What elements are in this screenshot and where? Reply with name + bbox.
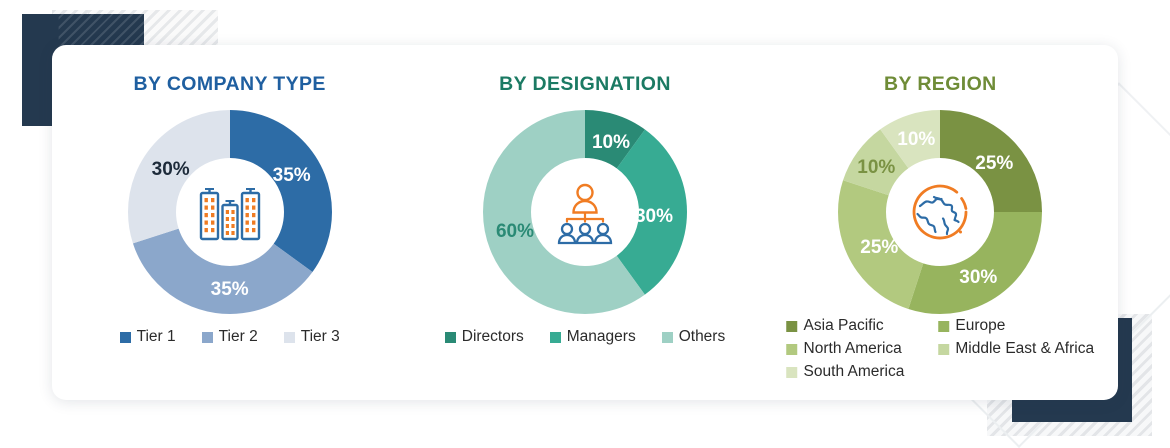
chart-card: BY COMPANY TYPE 35% 35% 30% [52, 45, 1118, 400]
legend-swatch-south-america [787, 367, 798, 378]
legend-swatch-directors [445, 332, 456, 343]
legend-swatch-tier-1 [120, 332, 131, 343]
donut-chart-designation: 10% 30% 60% [481, 108, 689, 316]
legend-label-others: Others [679, 328, 726, 346]
donut-chart-region: 25% 30% 25% 10% 10% [836, 108, 1044, 316]
legend-item-managers[interactable]: Managers [550, 328, 636, 346]
legend-label-managers: Managers [567, 328, 636, 346]
buildings-icon [193, 175, 267, 249]
slice-label-tier-2: 35% [211, 279, 249, 301]
legend-swatch-others [662, 332, 673, 343]
legend-company-type: Tier 1 Tier 2 Tier 3 [52, 328, 407, 346]
legend-region: Asia Pacific Europe North America Middle… [787, 317, 1095, 381]
legend-swatch-managers [550, 332, 561, 343]
legend-label-asia-pacific: Asia Pacific [804, 317, 884, 335]
legend-item-south-america[interactable]: South America [787, 363, 905, 381]
legend-item-tier-2[interactable]: Tier 2 [202, 328, 258, 346]
legend-label-south-america: South America [804, 363, 905, 381]
slice-label-north-america: 25% [860, 237, 898, 259]
slice-label-tier-3: 30% [152, 159, 190, 181]
org-chart-icon [548, 175, 622, 249]
infographic-stage: BY COMPANY TYPE 35% 35% 30% [0, 0, 1170, 444]
slice-label-middle-east-africa: 10% [857, 157, 895, 179]
slice-label-others: 60% [496, 221, 534, 243]
legend-designation: Directors Managers Others [407, 328, 762, 346]
slice-label-directors: 10% [592, 132, 630, 154]
globe-icon [903, 175, 977, 249]
slice-label-tier-1: 35% [273, 165, 311, 187]
legend-swatch-europe [938, 321, 949, 332]
legend-swatch-north-america [787, 344, 798, 355]
legend-swatch-asia-pacific [787, 321, 798, 332]
panel-by-region: BY REGION 25% 30% 25% 10% [763, 45, 1118, 400]
legend-label-europe: Europe [955, 317, 1005, 335]
legend-item-asia-pacific[interactable]: Asia Pacific [787, 317, 905, 335]
panel-by-designation: BY DESIGNATION 10% 30% 60% [407, 45, 762, 400]
panel-by-company-type: BY COMPANY TYPE 35% 35% 30% [52, 45, 407, 400]
legend-item-directors[interactable]: Directors [445, 328, 524, 346]
chart-panels: BY COMPANY TYPE 35% 35% 30% [52, 45, 1118, 400]
legend-item-others[interactable]: Others [662, 328, 726, 346]
legend-label-tier-2: Tier 2 [219, 328, 258, 346]
slice-label-europe: 30% [959, 267, 997, 289]
legend-label-tier-1: Tier 1 [137, 328, 176, 346]
legend-item-tier-1[interactable]: Tier 1 [120, 328, 176, 346]
legend-item-north-america[interactable]: North America [787, 340, 905, 358]
slice-label-managers: 30% [635, 206, 673, 228]
legend-label-north-america: North America [804, 340, 902, 358]
slice-label-asia-pacific: 25% [975, 153, 1013, 175]
legend-swatch-tier-3 [284, 332, 295, 343]
legend-swatch-middle-east-africa [938, 344, 949, 355]
legend-item-middle-east-africa[interactable]: Middle East & Africa [938, 340, 1094, 358]
legend-label-tier-3: Tier 3 [301, 328, 340, 346]
legend-swatch-tier-2 [202, 332, 213, 343]
slice-label-south-america: 10% [897, 129, 935, 151]
panel-title-region: BY REGION [884, 73, 997, 96]
panel-title-company-type: BY COMPANY TYPE [133, 73, 325, 96]
panel-title-designation: BY DESIGNATION [499, 73, 671, 96]
legend-label-directors: Directors [462, 328, 524, 346]
legend-item-tier-3[interactable]: Tier 3 [284, 328, 340, 346]
legend-item-europe[interactable]: Europe [938, 317, 1094, 335]
legend-label-middle-east-africa: Middle East & Africa [955, 340, 1094, 358]
donut-chart-company-type: 35% 35% 30% [126, 108, 334, 316]
